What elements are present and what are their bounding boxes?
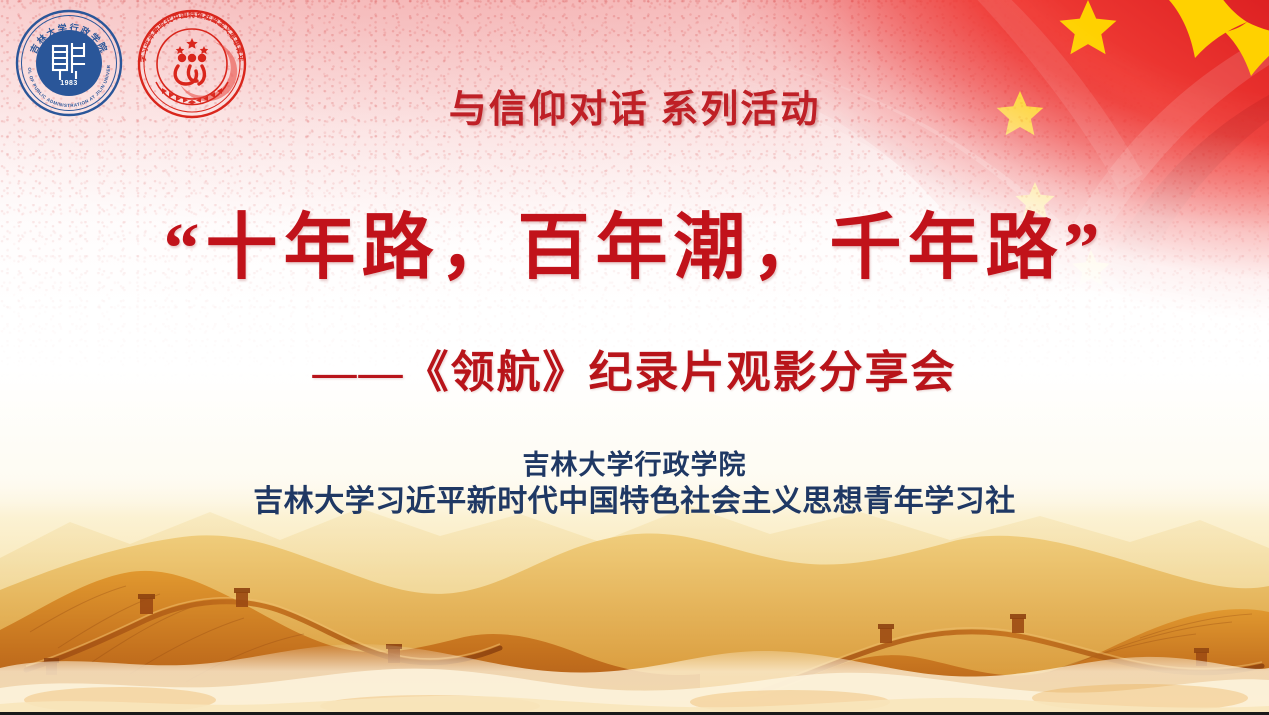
poster-canvas: 吉林大学行政学院 SCHOOL OF PUBLIC ADMINISTRATION…: [0, 0, 1269, 715]
chinese-national-flag-artwork: [739, 0, 1269, 360]
page-title: “十年路，百年潮，千年路”: [0, 188, 1269, 293]
event-subtitle: ——《领航》纪录片观影分享会: [0, 336, 1269, 400]
organizer-block: 吉林大学行政学院 吉林大学习近平新时代中国特色社会主义思想青年学习社: [0, 448, 1269, 521]
organizer-line-2: 吉林大学习近平新时代中国特色社会主义思想青年学习社: [0, 483, 1269, 521]
series-activity-line: 与信仰对话 系列活动: [0, 78, 1269, 133]
organizer-line-1: 吉林大学行政学院: [0, 448, 1269, 483]
